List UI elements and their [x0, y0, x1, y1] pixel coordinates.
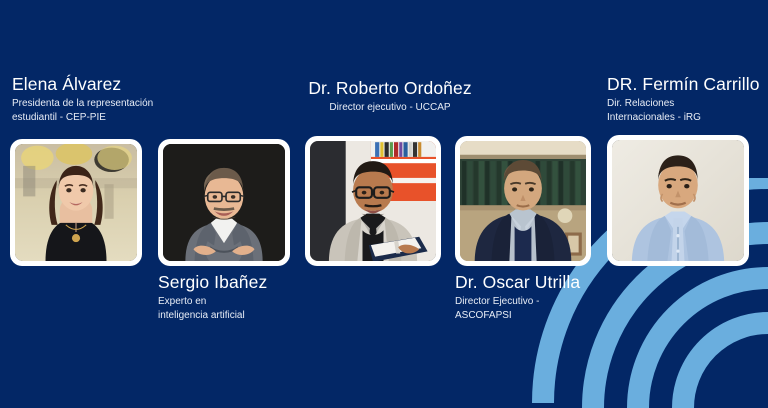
speaker-role: Dir. Relaciones Internacionales - iRG [607, 97, 768, 124]
speaker-name: Sergio Ibañez [158, 272, 358, 292]
speaker-label-fermin-carrillo: DR. Fermín Carrillo Dir. Relaciones Inte… [607, 74, 768, 124]
speaker-name: Dr. Roberto Ordoñez [290, 78, 490, 98]
speaker-label-roberto-ordonez: Dr. Roberto Ordoñez Director ejecutivo -… [290, 78, 490, 115]
speaker-photo-frame-elena-alvarez [10, 139, 142, 266]
speaker-role: Experto en inteligencia artificial [158, 295, 358, 322]
speaker-label-elena-alvarez: Elena Álvarez Presidenta de la represent… [12, 74, 212, 124]
speaker-photo-frame-roberto-ordonez [305, 136, 441, 266]
speaker-photo-frame-fermin-carrillo [607, 135, 749, 266]
oscar-utrilla-photo [460, 141, 586, 261]
speaker-role: Director ejecutivo - UCCAP [290, 101, 490, 115]
speaker-label-oscar-utrilla: Dr. Oscar Utrilla Director Ejecutivo - A… [455, 272, 655, 322]
sergio-ibanez-photo [163, 144, 285, 261]
roberto-ordonez-photo [310, 141, 436, 261]
speaker-role: Presidenta de la representación estudian… [12, 97, 212, 124]
speaker-role: Director Ejecutivo - ASCOFAPSI [455, 295, 655, 322]
speaker-name: Elena Álvarez [12, 74, 212, 94]
elena-alvarez-photo [15, 144, 137, 261]
speaker-name: Dr. Oscar Utrilla [455, 272, 655, 292]
speaker-label-sergio-ibanez: Sergio Ibañez Experto en inteligencia ar… [158, 272, 358, 322]
speaker-name: DR. Fermín Carrillo [607, 74, 768, 94]
fermin-carrillo-photo [612, 140, 744, 261]
speaker-photo-frame-sergio-ibanez [158, 139, 290, 266]
speaker-panel-graphic: Elena Álvarez Presidenta de la represent… [0, 0, 768, 408]
speaker-photo-frame-oscar-utrilla [455, 136, 591, 266]
